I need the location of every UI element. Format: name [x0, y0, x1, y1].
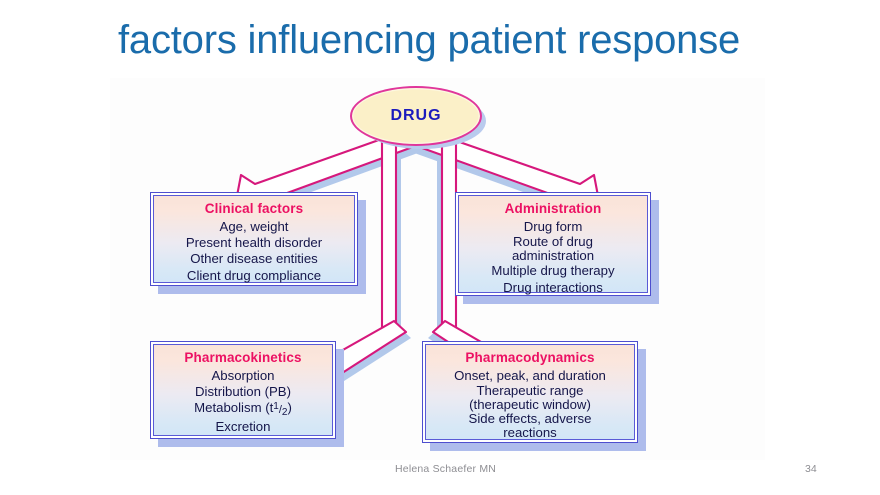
pharmacokinetics-line: Distribution (PB) [195, 384, 291, 400]
pharmacodynamics-line: (therapeutic window) [469, 398, 591, 412]
diagram-canvas: DRUG Clinical factors Age, weight Presen… [110, 78, 765, 460]
clinical-factors-title: Clinical factors [205, 201, 303, 218]
metabolism-suffix: ) [287, 401, 291, 416]
administration-line: Drug interactions [503, 280, 603, 296]
pharmacodynamics-title: Pharmacodynamics [465, 350, 594, 367]
drug-node-label: DRUG [390, 107, 441, 125]
clinical-factors-line: Client drug compliance [187, 268, 321, 284]
fraction-numerator: 1 [273, 400, 279, 411]
administration-line: Drug form [524, 219, 583, 235]
pharmacokinetics-title: Pharmacokinetics [184, 350, 301, 367]
administration-box[interactable]: Administration Drug form Route of drug a… [455, 192, 651, 296]
metabolism-prefix: Metabolism (t [194, 401, 273, 416]
administration-line: Multiple drug therapy [491, 263, 614, 279]
administration-line: Route of drug [513, 235, 593, 249]
pharmacokinetics-line-metabolism: Metabolism (t1/2) [194, 400, 292, 418]
drug-node: DRUG [350, 86, 478, 142]
pharmacodynamics-box[interactable]: Pharmacodynamics Onset, peak, and durati… [422, 341, 638, 443]
administration-title: Administration [505, 201, 602, 218]
drug-ellipse: DRUG [350, 86, 482, 146]
administration-box-inner: Administration Drug form Route of drug a… [458, 195, 648, 293]
pharmacokinetics-line: Excretion [216, 419, 271, 435]
footer-author: Helena Schaefer MN [395, 463, 496, 475]
pharmacodynamics-line: Therapeutic range [476, 384, 583, 398]
clinical-factors-line: Present health disorder [186, 235, 322, 251]
clinical-factors-line: Age, weight [220, 219, 289, 235]
half-life-fraction: 1/2 [273, 404, 287, 416]
page-title: factors influencing patient response [118, 18, 818, 63]
clinical-factors-box-inner: Clinical factors Age, weight Present hea… [153, 195, 355, 283]
pharmacodynamics-line: Side effects, adverse [469, 412, 592, 426]
clinical-factors-box[interactable]: Clinical factors Age, weight Present hea… [150, 192, 358, 286]
pharmacokinetics-box[interactable]: Pharmacokinetics Absorption Distribution… [150, 341, 336, 439]
pharmacodynamics-line: reactions [503, 426, 557, 440]
pharmacodynamics-box-inner: Pharmacodynamics Onset, peak, and durati… [425, 344, 635, 440]
administration-line: administration [512, 249, 594, 263]
pharmacokinetics-line: Absorption [211, 368, 274, 384]
pharmacokinetics-box-inner: Pharmacokinetics Absorption Distribution… [153, 344, 333, 436]
slide-page-number: 34 [805, 463, 817, 475]
clinical-factors-line: Other disease entities [190, 251, 318, 267]
pharmacodynamics-line: Onset, peak, and duration [454, 368, 606, 384]
